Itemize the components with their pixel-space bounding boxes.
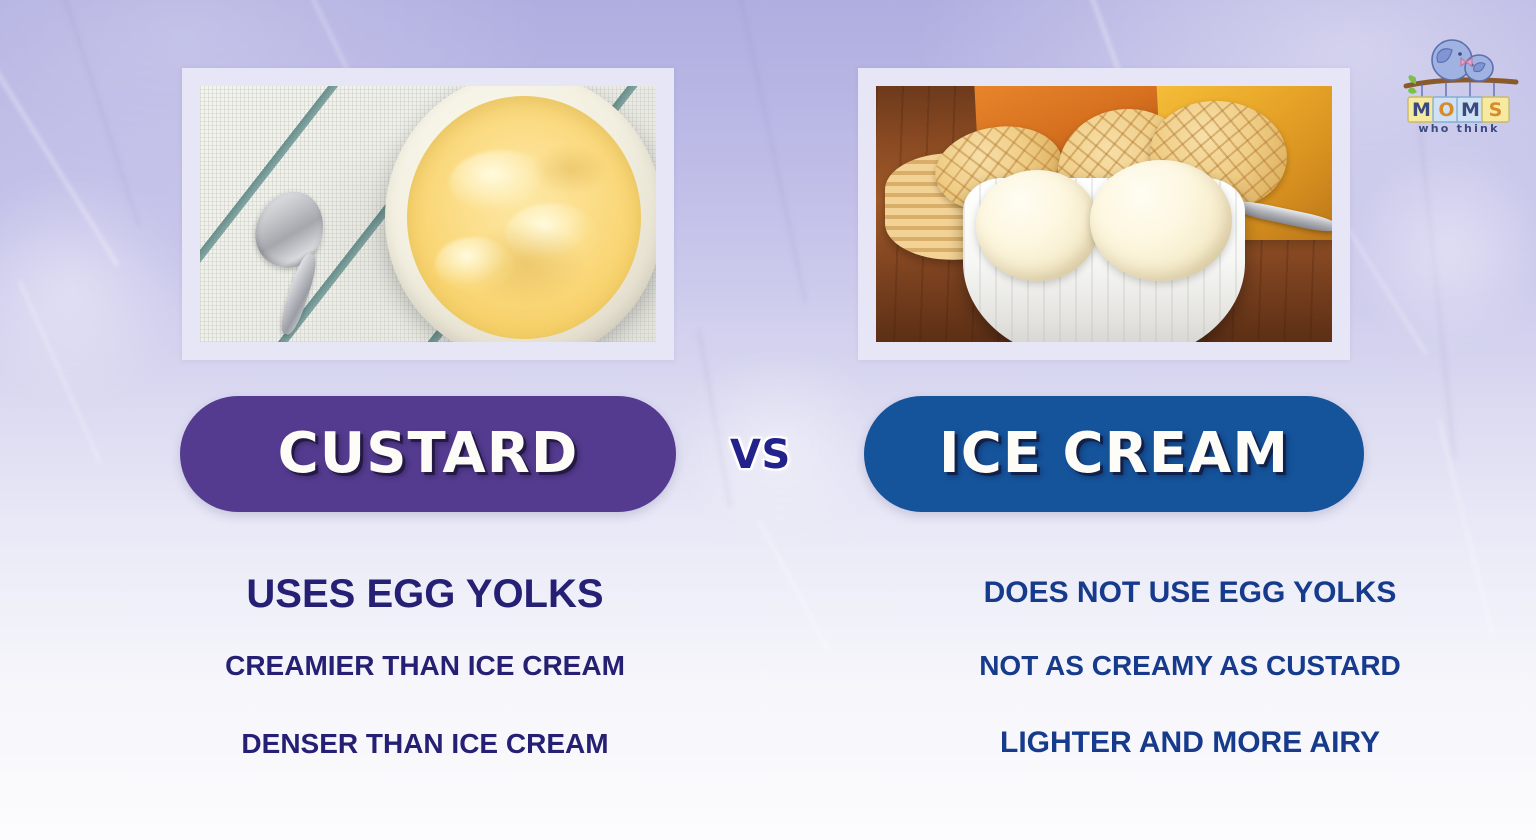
icecream-pill-label: ICE CREAM (939, 426, 1289, 482)
logo-letter-2: M (1461, 99, 1480, 121)
custard-pill-label: CUSTARD (278, 426, 579, 482)
icecream-photo (876, 86, 1332, 342)
infographic-canvas: CUSTARD VS ICE CREAM USES EGG YOLKS CREA… (0, 0, 1536, 840)
icecream-photo-frame (858, 68, 1350, 360)
logo-letter-blocks: M O M S (1408, 97, 1509, 122)
moms-who-think-logo[interactable]: M O M S who think (1394, 24, 1530, 134)
icecream-pill[interactable]: ICE CREAM (864, 396, 1364, 512)
custard-photo-frame (182, 68, 674, 360)
icecream-feature-1: DOES NOT USE EGG YOLKS (690, 578, 1536, 608)
ice-cream-scoop-right (1090, 160, 1231, 280)
logo-letter-3: S (1489, 99, 1503, 121)
custard-bowl (385, 86, 656, 342)
logo-artwork: M O M S who think (1394, 24, 1530, 134)
custard-surface (407, 96, 641, 339)
bird-eye-icon (1458, 52, 1462, 56)
icecream-feature-3: LIGHTER AND MORE AIRY (690, 728, 1536, 758)
logo-tagline: who think (1418, 122, 1499, 134)
leaf-icon (1408, 88, 1417, 94)
vs-separator: VS (730, 432, 791, 478)
logo-letter-0: M (1412, 99, 1431, 121)
custard-pill[interactable]: CUSTARD (180, 396, 676, 512)
icecream-feature-2: NOT AS CREAMY AS CUSTARD (690, 652, 1536, 680)
custard-photo (200, 86, 656, 342)
ice-cream-scoop-left (976, 170, 1099, 280)
logo-letter-1: O (1438, 99, 1454, 121)
